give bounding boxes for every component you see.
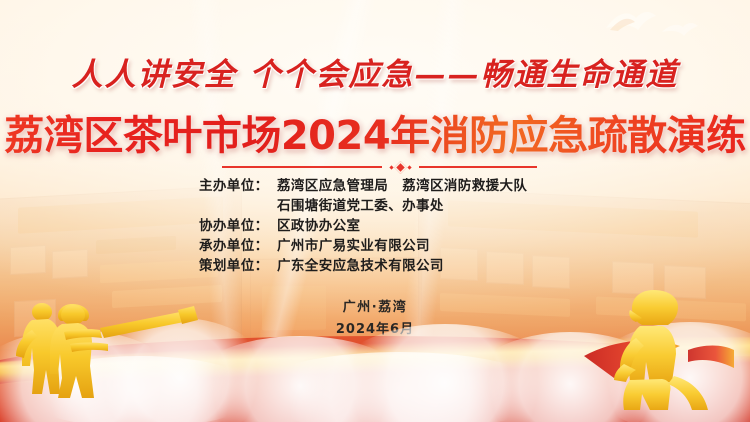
- organizer-value: 石围塘街道党工委、办事处: [277, 198, 444, 214]
- diamond-ornament-icon: [390, 163, 411, 172]
- divider-line-left: [222, 166, 382, 168]
- main-title-group: 荔湾区茶叶市场2024年消防应急疏散演练 荔湾区茶叶市场2024年消防应急疏散演…: [0, 0, 750, 60]
- organizer-label: 协办单位：: [199, 216, 277, 236]
- main-title: 荔湾区茶叶市场2024年消防应急疏散演练: [0, 103, 750, 161]
- organizer-value: 广州市广易实业有限公司: [277, 238, 430, 254]
- divider-line-right: [419, 166, 537, 168]
- organizer-label: 承办单位：: [199, 236, 277, 256]
- organizer-value: 区政协办公室: [277, 218, 360, 234]
- organizer-value: 荔湾区应急管理局: [277, 178, 388, 194]
- firefighter-hose-silhouette: [8, 290, 208, 400]
- divider: [202, 160, 556, 174]
- firefighter-crouching-silhouette: [584, 284, 734, 414]
- organizer-row: 承办单位：广州市广易实业有限公司: [0, 236, 750, 256]
- organizer-label: 策划单位：: [199, 256, 277, 276]
- poster-canvas: 人人讲安全 个个会应急——畅通生命通道 荔湾区茶叶市场2024年消防应急疏散演练…: [0, 0, 750, 422]
- organizer-value: 广东全安应急技术有限公司: [277, 258, 444, 274]
- organizer-label: 主办单位：: [199, 176, 277, 196]
- organizer-row: 策划单位：广东全安应急技术有限公司: [0, 256, 750, 276]
- organizer-row: 主办单位：荔湾区应急管理局荔湾区消防救援大队: [0, 176, 750, 196]
- organizer-row: 石围塘街道党工委、办事处: [0, 196, 750, 216]
- organizer-value-2: 荔湾区消防救援大队: [402, 178, 527, 194]
- organizer-row: 协办单位：区政协办公室: [0, 216, 750, 236]
- organizer-list: 主办单位：荔湾区应急管理局荔湾区消防救援大队 石围塘街道党工委、办事处 协办单位…: [0, 176, 750, 276]
